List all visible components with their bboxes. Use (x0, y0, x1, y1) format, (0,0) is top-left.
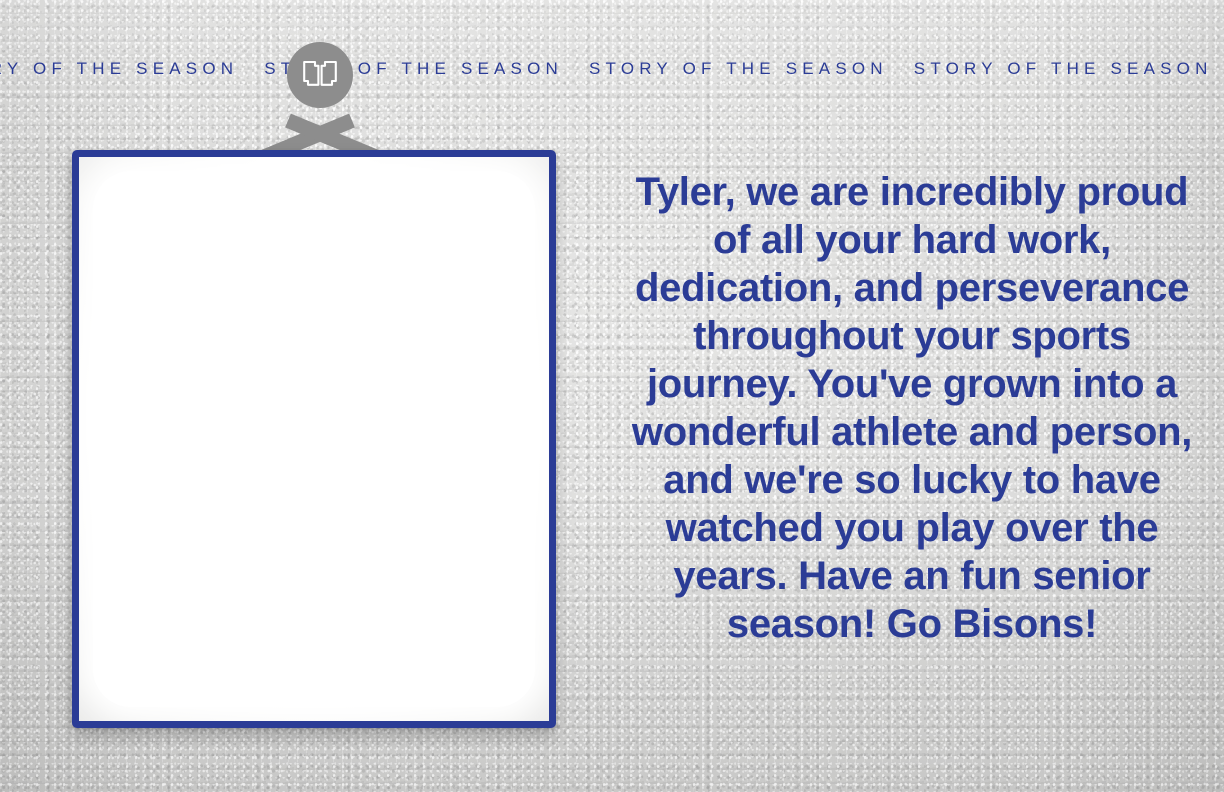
banner-item: STORY OF THE SEASON (914, 59, 1224, 78)
story-of-the-season-banner: TORY OF THE SEASONSTORY OF THE SEASONSTO… (0, 52, 1224, 86)
message-panel: Tyler, we are incredibly proud of all yo… (600, 168, 1224, 648)
slide-canvas: TORY OF THE SEASONSTORY OF THE SEASONSTO… (0, 0, 1224, 792)
banner-text-track: TORY OF THE SEASONSTORY OF THE SEASONSTO… (0, 52, 1224, 86)
photo-frame[interactable] (72, 150, 556, 728)
tribute-message: Tyler, we are incredibly proud of all yo… (600, 168, 1224, 648)
hanger-knob (287, 42, 353, 108)
photo-placeholder (93, 171, 535, 707)
banner-item: STORY OF THE SEASON (589, 59, 914, 78)
open-book-icon (300, 58, 340, 92)
banner-item: TORY OF THE SEASON (0, 59, 264, 78)
